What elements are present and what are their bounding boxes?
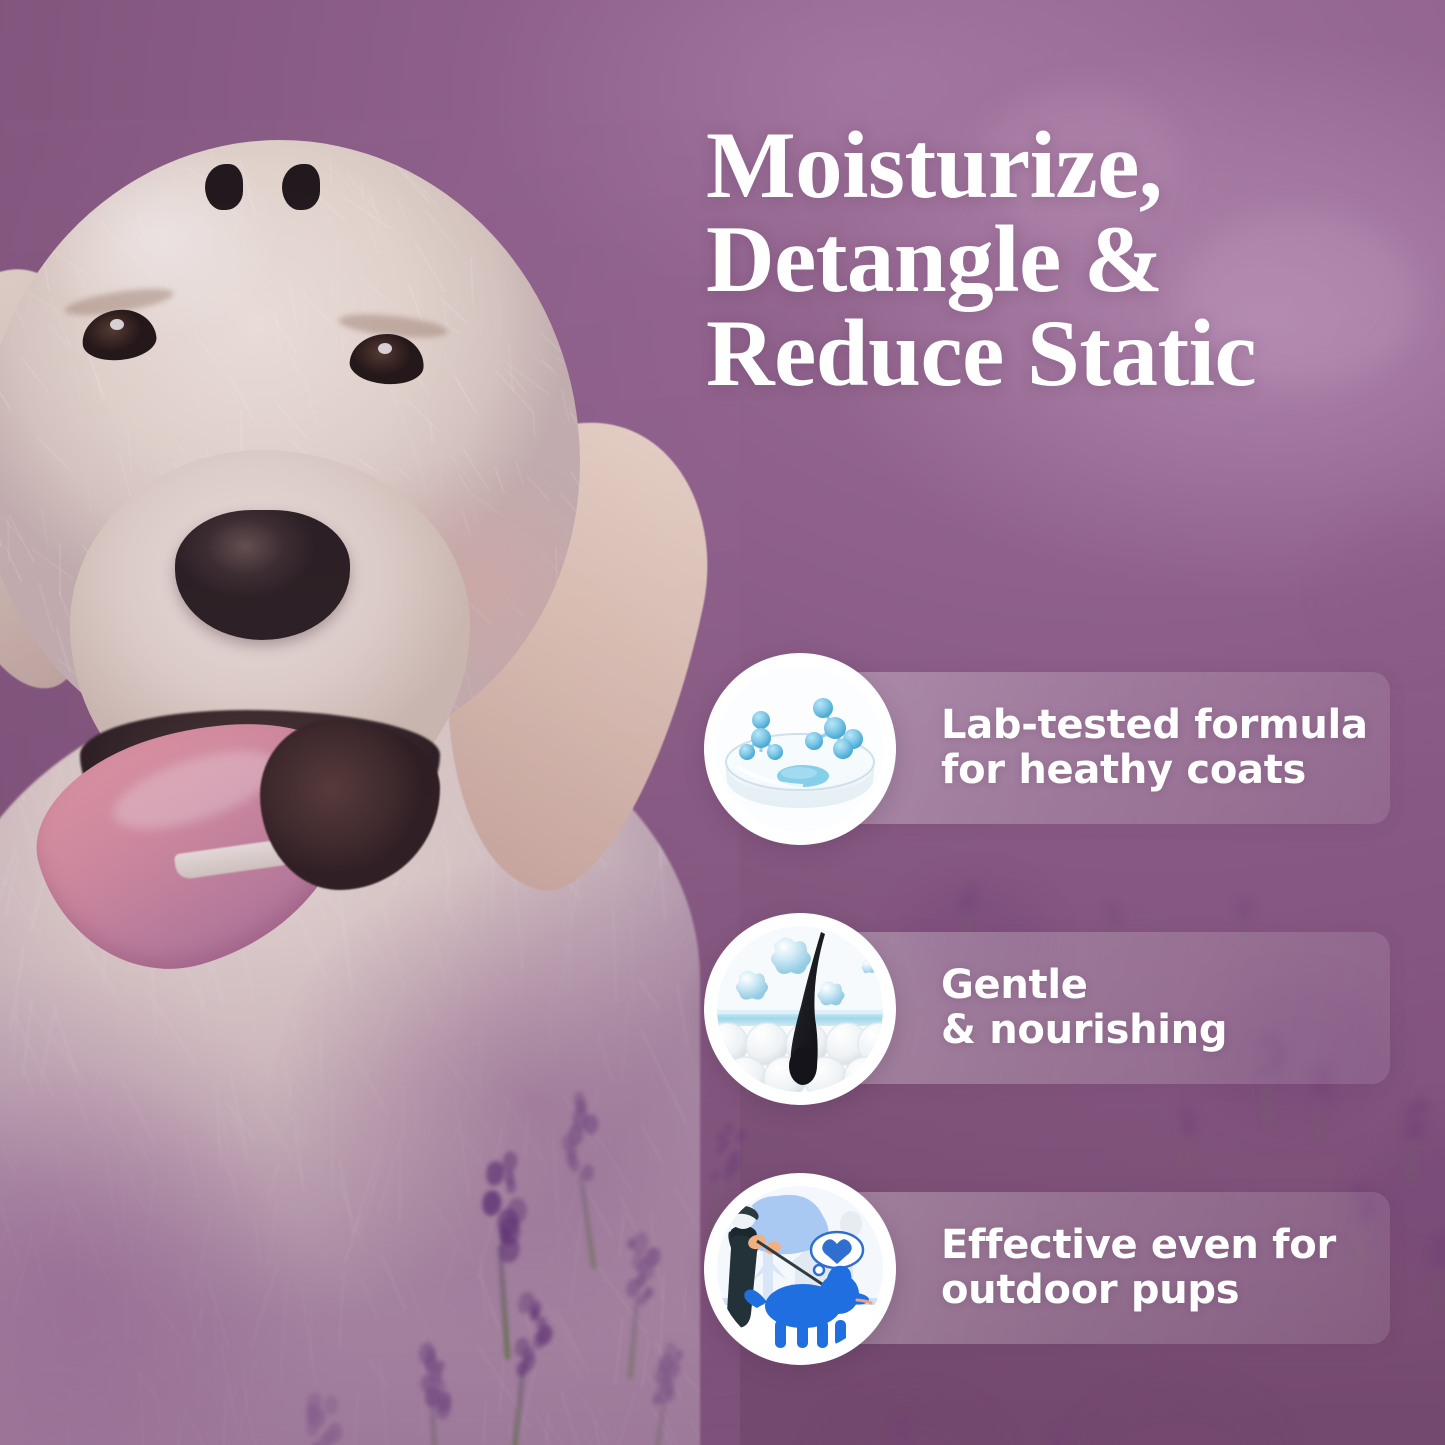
dog-walking-icon xyxy=(704,1173,896,1365)
feature-line: Gentle xyxy=(941,963,1371,1008)
petri-dish-molecule-icon xyxy=(704,653,896,845)
dog-nostril-right xyxy=(282,164,320,210)
icon-canvas xyxy=(717,1186,883,1352)
page-title: Moisturize, Detangle & Reduce Static xyxy=(706,118,1432,400)
headline-line-3: Reduce Static xyxy=(706,306,1432,400)
feature-text-gentle-nourishing: Gentle & nourishing xyxy=(941,963,1371,1053)
feature-line: for heathy coats xyxy=(941,748,1371,793)
dog-eye-shine-right xyxy=(378,343,392,354)
headline-line-2: Detangle & xyxy=(706,212,1432,306)
headline-line-1: Moisturize, xyxy=(706,118,1432,212)
product-feature-banner: Moisturize, Detangle & Reduce Static Lab… xyxy=(0,0,1445,1445)
dog-walking-svg xyxy=(717,1186,883,1352)
hair-follicle-icon xyxy=(704,913,896,1105)
feature-line: & nourishing xyxy=(941,1008,1371,1053)
hair-follicle-svg xyxy=(717,926,883,1092)
icon-canvas xyxy=(717,926,883,1092)
petri-dish-svg xyxy=(717,666,883,832)
feature-line: outdoor pups xyxy=(941,1268,1371,1313)
icon-canvas xyxy=(717,666,883,832)
feature-line: Effective even for xyxy=(941,1223,1371,1268)
feature-text-lab-tested: Lab-tested formula for heathy coats xyxy=(941,703,1371,793)
feature-line: Lab-tested formula xyxy=(941,703,1371,748)
dog-nostril-left xyxy=(205,164,243,210)
feature-text-outdoor-pups: Effective even for outdoor pups xyxy=(941,1223,1371,1313)
dog-eye-shine-left xyxy=(110,319,124,330)
